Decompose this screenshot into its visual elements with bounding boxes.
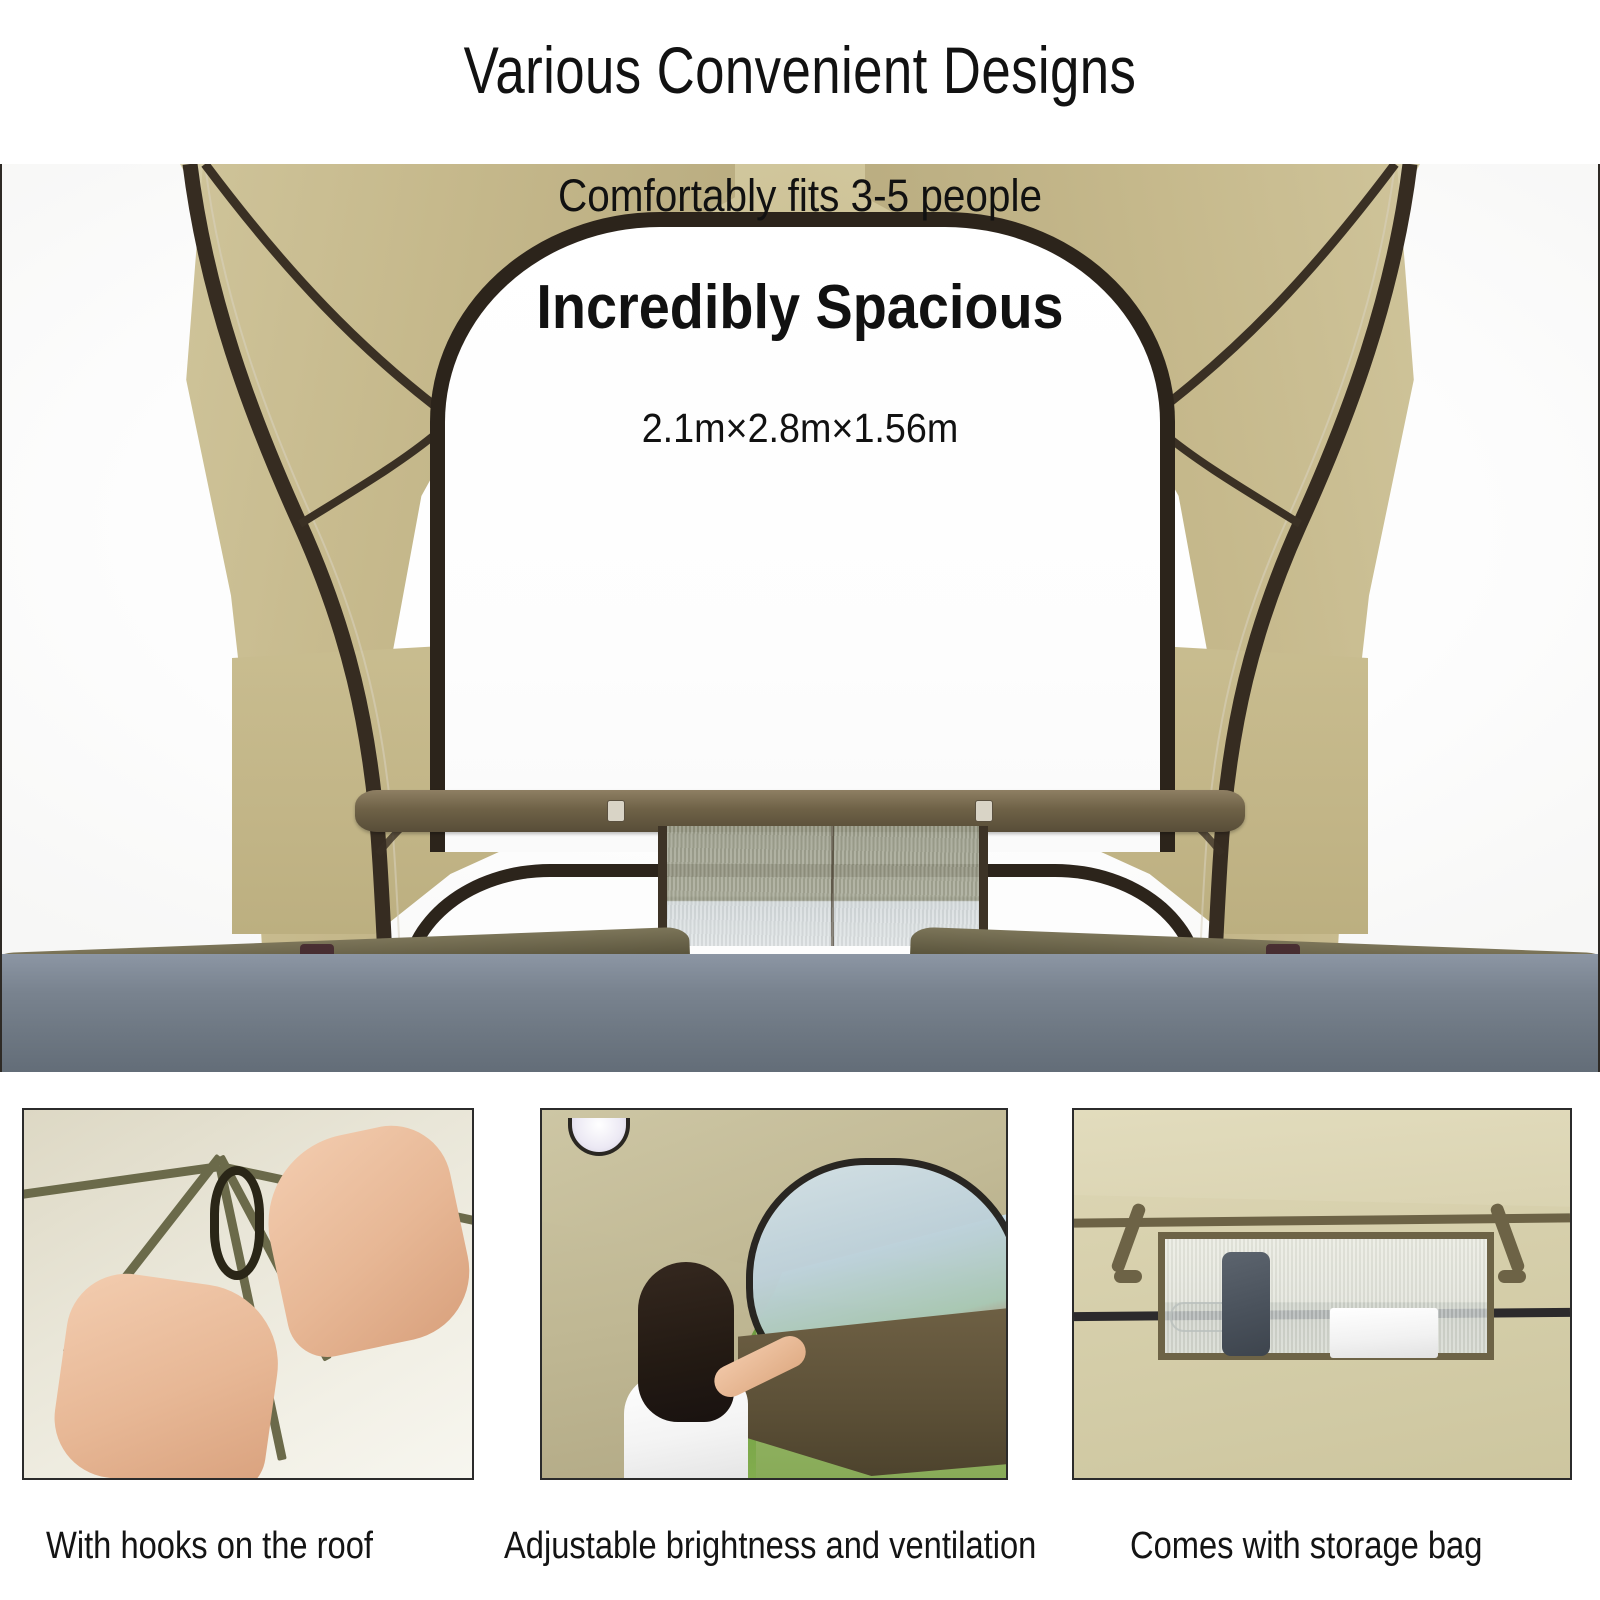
overlay-headline: Incredibly Spacious: [80, 266, 1520, 350]
overlay-dimensions: 2.1m×2.8m×1.56m: [64, 402, 1536, 454]
caption-storage-bag: Comes with storage bag: [1130, 1520, 1482, 1572]
mesh-storage-pocket: [1158, 1232, 1494, 1360]
smartphone: [1222, 1252, 1270, 1356]
thumbnail-captions: With hooks on the roof Adjustable bright…: [0, 1520, 1600, 1582]
caption-ventilation: Adjustable brightness and ventilation: [504, 1520, 1036, 1572]
caption-roof-hooks: With hooks on the roof: [46, 1520, 373, 1572]
wall-hook-left-tip: [1114, 1270, 1142, 1283]
person-figure: [620, 1262, 770, 1480]
tent-floor: [0, 954, 1600, 1072]
thumbnail-window-ventilation: [540, 1108, 1008, 1480]
feature-thumbnail-row: [0, 1108, 1600, 1480]
zipper-pull-left: [607, 800, 625, 822]
hair: [638, 1262, 734, 1422]
mesh-window-center-seam: [831, 826, 834, 946]
white-box-item: [1330, 1308, 1438, 1358]
hero-overlay-text: Comfortably fits 3-5 people Incredibly S…: [0, 168, 1600, 454]
roof-hook-icon: [210, 1166, 264, 1280]
zipper-pull-right: [975, 800, 993, 822]
overlay-capacity-text: Comfortably fits 3-5 people: [80, 168, 1520, 224]
thumbnail-roof-hooks: [22, 1108, 474, 1480]
wall-hook-right-tip: [1498, 1270, 1526, 1283]
page-title: Various Convenient Designs: [160, 34, 1440, 106]
thumbnail-storage-pocket: [1072, 1108, 1572, 1480]
